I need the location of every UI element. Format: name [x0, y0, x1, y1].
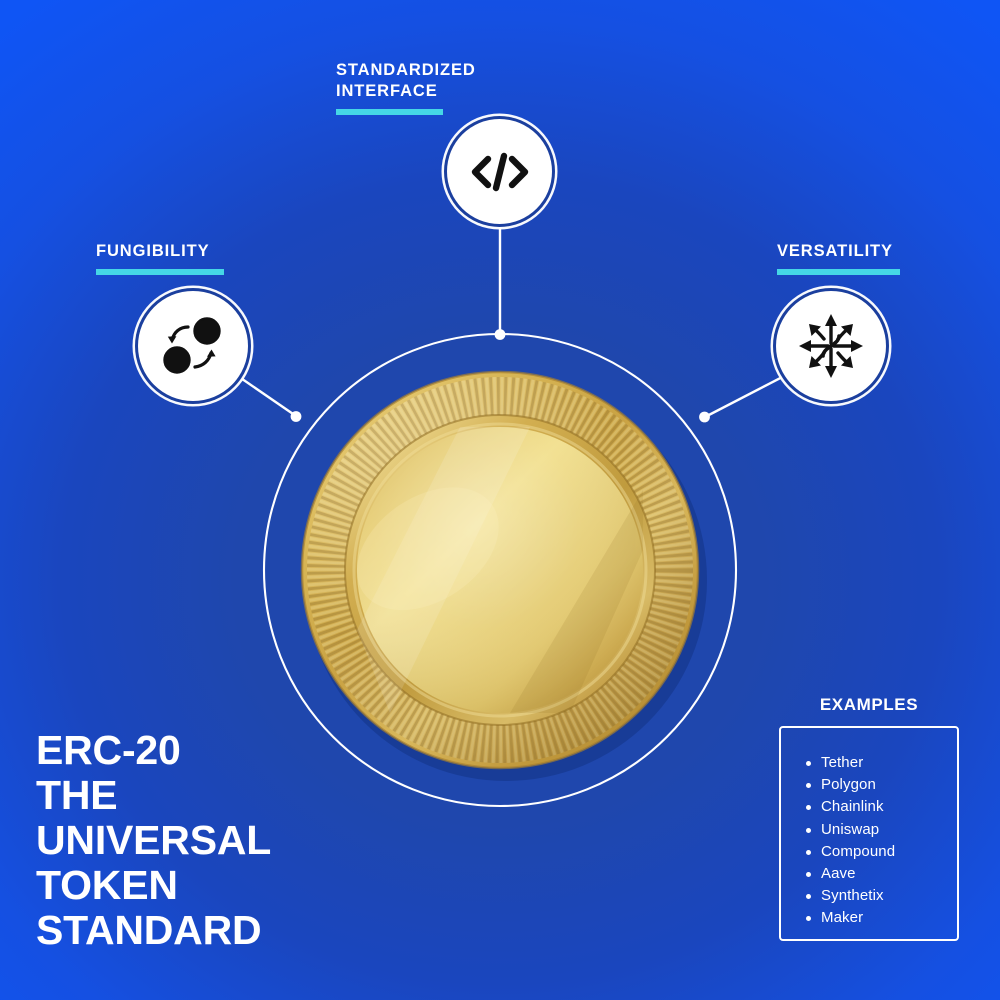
connector-fungibility [232, 372, 296, 416]
feature-label-versatility: VERSATILITY [777, 241, 967, 275]
icon-bubble-fungibility [138, 291, 248, 401]
page-title: ERC-20 THE UNIVERSAL TOKEN STANDARD [36, 728, 271, 952]
infographic-canvas: STANDARDIZED INTERFACE FUNGIBILITY VERSA… [0, 0, 1000, 1000]
examples-list: TetherPolygonChainlinkUniswapCompoundAav… [781, 752, 957, 930]
connector-versatility [705, 372, 792, 417]
example-list-item: Uniswap [821, 819, 957, 841]
feature-label-standardized-interface: STANDARDIZED INTERFACE [336, 60, 536, 115]
label-underline-fungibility [96, 269, 224, 275]
examples-box: TetherPolygonChainlinkUniswapCompoundAav… [779, 726, 959, 941]
example-list-item: Tether [821, 752, 957, 774]
gold-coin [302, 372, 707, 781]
icon-bubble-versatility [776, 291, 886, 401]
examples-title: EXAMPLES [779, 695, 959, 715]
node-standardized-interface [495, 329, 506, 340]
example-list-item: Maker [821, 907, 957, 929]
feature-label-text: FUNGIBILITY [96, 242, 209, 260]
feature-label-fungibility: FUNGIBILITY [96, 241, 286, 275]
coin-swap-icon [156, 311, 230, 381]
example-list-item: Synthetix [821, 885, 957, 907]
node-versatility [699, 412, 710, 423]
code-brackets-icon [470, 151, 530, 193]
label-underline-versatility [777, 269, 900, 275]
example-list-item: Chainlink [821, 796, 957, 818]
node-fungibility [291, 411, 302, 422]
feature-label-text: VERSATILITY [777, 242, 893, 260]
examples-panel: EXAMPLES TetherPolygonChainlinkUniswapCo… [779, 695, 959, 941]
icon-bubble-standardized-interface [447, 119, 552, 224]
example-list-item: Compound [821, 841, 957, 863]
example-list-item: Aave [821, 863, 957, 885]
example-list-item: Polygon [821, 774, 957, 796]
label-underline-standardized [336, 109, 443, 115]
feature-label-text: STANDARDIZED INTERFACE [336, 61, 476, 100]
multi-direction-arrows-icon [794, 309, 868, 383]
